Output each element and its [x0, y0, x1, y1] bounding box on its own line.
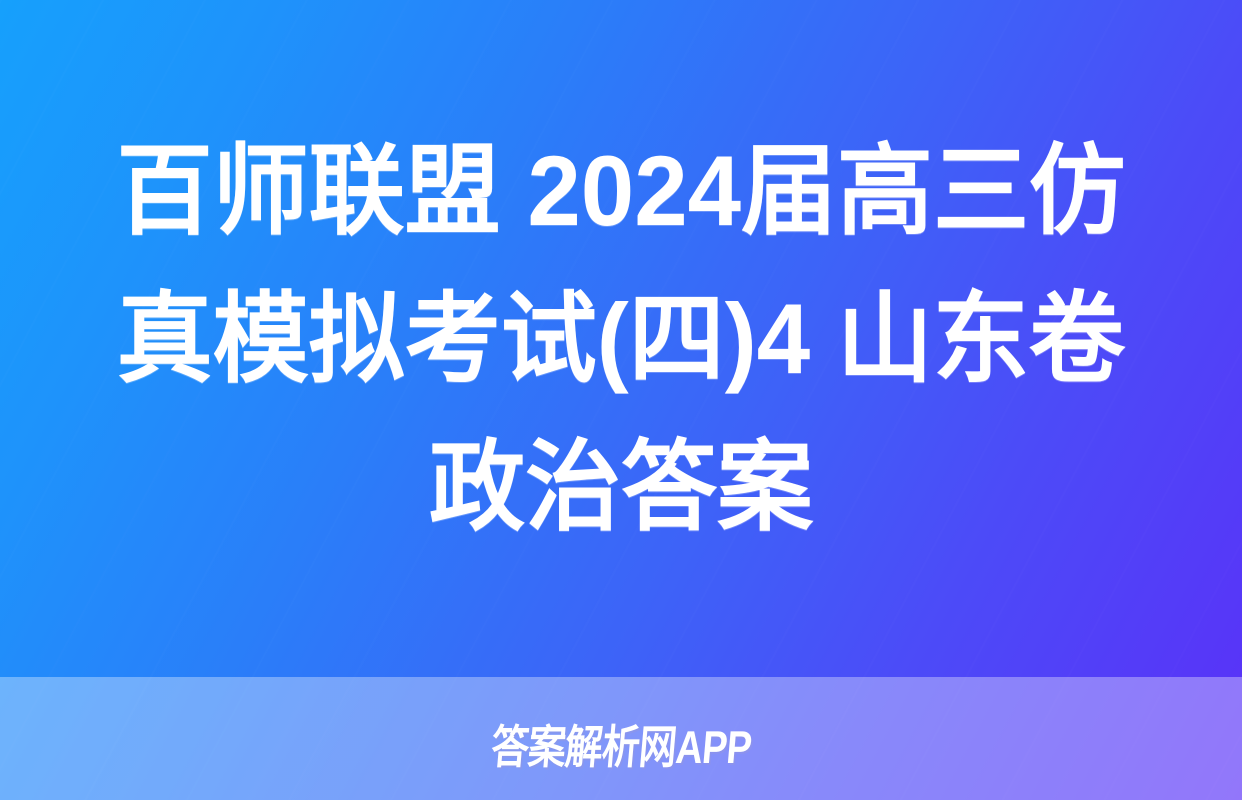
watermark-app-label: 答案解析网APP — [489, 724, 753, 770]
page-title-line-1: 百师联盟 2024届高三仿 — [117, 117, 1126, 265]
watermark-band: 答案解析网APP — [0, 677, 1242, 800]
page-title: 百师联盟 2024届高三仿 真模拟考试(四)4 山东卷 政治答案 — [0, 0, 1242, 677]
exam-answer-cover-card: 百师联盟 2024届高三仿 真模拟考试(四)4 山东卷 政治答案 答案解析网AP… — [0, 0, 1242, 800]
page-title-line-3: 政治答案 — [429, 413, 813, 561]
page-title-line-2: 真模拟考试(四)4 山东卷 — [117, 265, 1125, 413]
